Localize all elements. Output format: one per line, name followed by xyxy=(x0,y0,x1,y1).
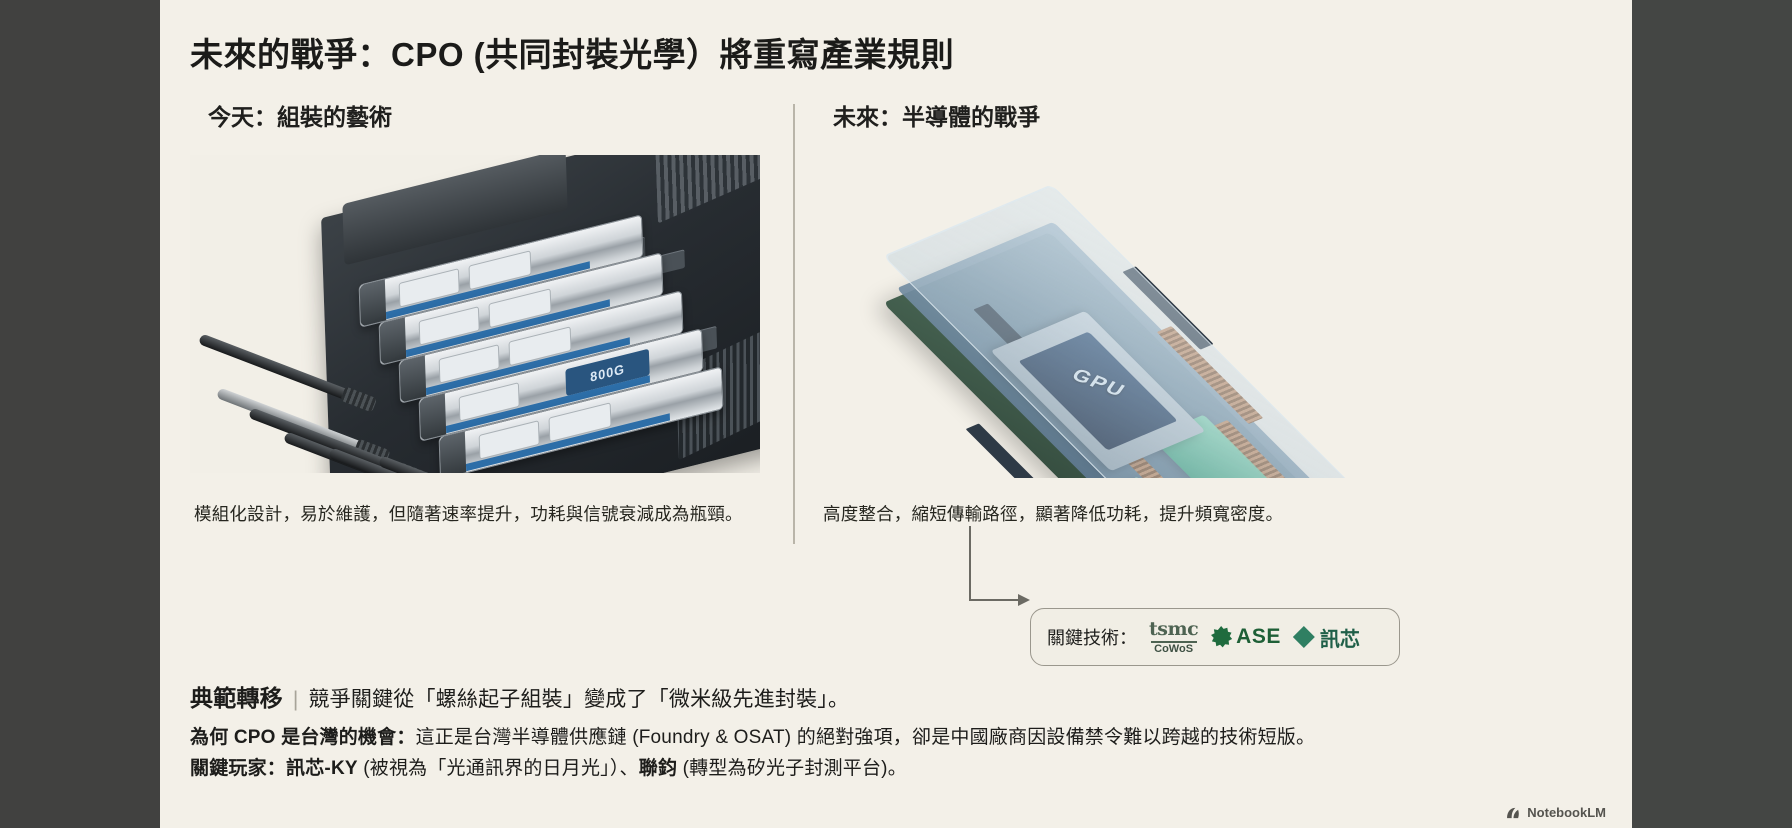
paradigm-shift-separator: | xyxy=(293,688,299,711)
right-column-heading: 未來：半導體的戰爭 xyxy=(833,98,1575,132)
ase-logo: ASE xyxy=(1210,625,1281,649)
cpo-opportunity-body: 這正是台灣半導體供應鏈 (Foundry & OSAT) 的絕對強項，卻是中國廠… xyxy=(416,727,1316,748)
optical-module-illustration: 800G xyxy=(190,155,760,473)
xunxin-logo-word: 訊芯 xyxy=(1320,623,1360,652)
module-latch xyxy=(380,317,407,364)
notebooklm-icon xyxy=(1506,807,1521,819)
heatsink-icon xyxy=(655,155,760,224)
callout-label: 關鍵技術： xyxy=(1047,624,1137,650)
xunxin-logo: 訊芯 xyxy=(1293,623,1360,652)
cpo-opportunity-lead: 為何 CPO 是台灣的機會： xyxy=(190,727,416,748)
module-latch xyxy=(360,279,387,326)
module-latch xyxy=(400,355,427,402)
key-player-two: 聯鈞 xyxy=(639,758,677,779)
left-column-heading: 今天：組裝的藝術 xyxy=(208,98,800,132)
tsmc-logo-word: tsmc xyxy=(1149,620,1198,639)
ase-starburst-icon xyxy=(1210,626,1232,648)
pcb-component xyxy=(661,249,685,273)
slide: 未來的戰爭：CPO (共同封裝光學）將重寫產業規則 今天：組裝的藝術 xyxy=(160,0,1632,828)
key-player-one-note: (被視為「光通訊界的日月光」）、 xyxy=(358,758,639,779)
paradigm-shift-lead: 典範轉移 xyxy=(190,685,283,711)
column-divider xyxy=(793,104,795,544)
ase-logo-word: ASE xyxy=(1236,625,1281,649)
letterbox-left xyxy=(0,0,160,828)
left-column-caption: 模組化設計，易於維護，但隨著速率提升，功耗與信號衰減成為瓶頸。 xyxy=(194,500,774,528)
paradigm-shift-line: 典範轉移|競爭關鍵從「螺絲起子組裝」變成了「微米級先進封裝」。 xyxy=(190,680,1590,717)
bottom-text-block: 典範轉移|競爭關鍵從「螺絲起子組裝」變成了「微米級先進封裝」。 為何 CPO 是… xyxy=(190,680,1590,785)
notebooklm-watermark: NotebookLM xyxy=(1506,805,1606,820)
paradigm-shift-body: 競爭關鍵從「螺絲起子組裝」變成了「微米級先進封裝」。 xyxy=(308,688,849,711)
tsmc-cowos-logo: tsmc CoWoS xyxy=(1149,620,1198,655)
module-latch xyxy=(420,393,447,440)
key-technology-callout: 關鍵技術： tsmc CoWoS ASE 訊芯 xyxy=(1030,608,1400,666)
key-player-one: 訊芯-KY xyxy=(286,758,358,779)
module-latch xyxy=(440,431,467,473)
screenshot-stage: 未來的戰爭：CPO (共同封裝光學）將重寫產業規則 今天：組裝的藝術 xyxy=(0,0,1792,828)
cpo-package-illustration: GPU xyxy=(815,148,1575,478)
left-column: 今天：組裝的藝術 xyxy=(190,98,800,146)
key-players-lead: 關鍵玩家： xyxy=(190,758,286,779)
key-players-line: 關鍵玩家：訊芯-KY (被視為「光通訊界的日月光」）、聯鈞 (轉型為矽光子封測平… xyxy=(190,754,1590,785)
key-player-two-note: (轉型為矽光子封測平台)。 xyxy=(677,758,907,779)
right-column-caption: 高度整合，縮短傳輸路徑，顯著降低功耗，提升頻寬密度。 xyxy=(823,500,1563,528)
right-column: 未來：半導體的戰爭 xyxy=(815,98,1575,146)
notebooklm-label: NotebookLM xyxy=(1527,805,1606,820)
letterbox-right xyxy=(1632,0,1792,828)
cpo-opportunity-line: 為何 CPO 是台灣的機會：這正是台灣半導體供應鏈 (Foundry & OSA… xyxy=(190,723,1590,754)
cowos-label: CoWoS xyxy=(1154,644,1193,655)
xunxin-diamond-icon xyxy=(1293,626,1315,648)
cpo-package: GPU xyxy=(845,156,1545,476)
page-title: 未來的戰爭：CPO (共同封裝光學）將重寫產業規則 xyxy=(190,28,1590,76)
